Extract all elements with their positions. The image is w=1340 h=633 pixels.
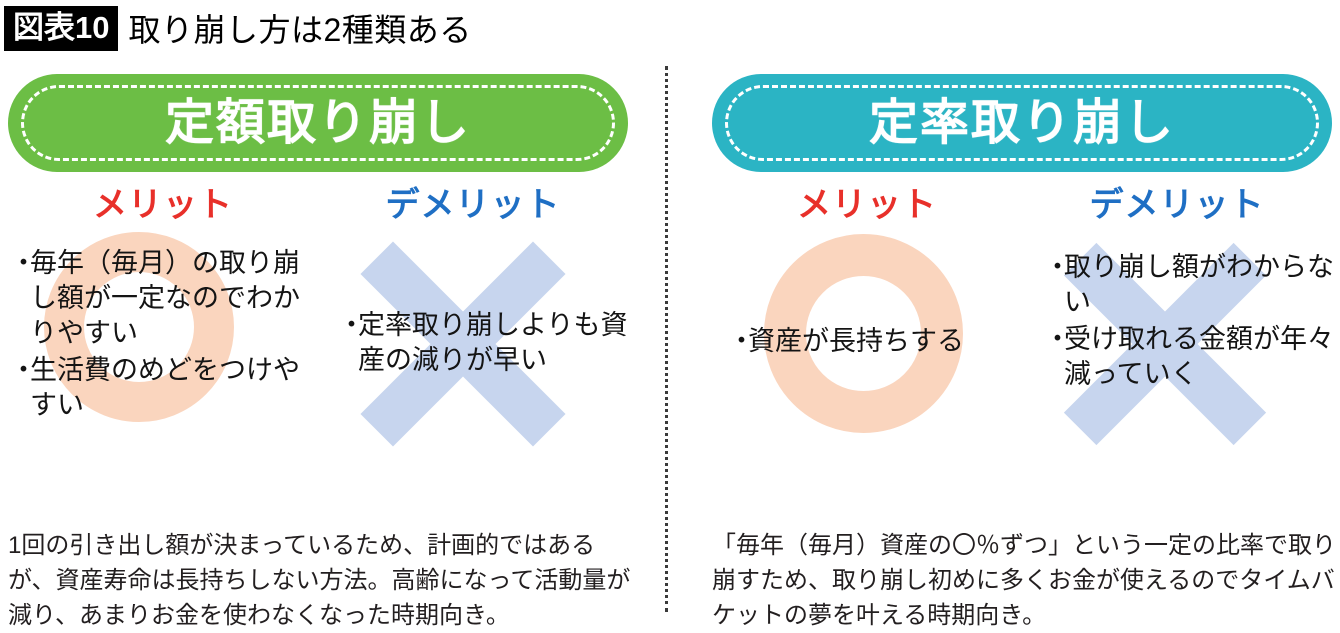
page-title-row: 図表10 取り崩し方は2種類ある bbox=[4, 4, 472, 52]
merit-demerit-columns: メリット ・ 資産が長持ちする デメリット ・ 取り崩し額がわからない bbox=[712, 188, 1332, 488]
list-item-label: 定率取り崩しよりも資産の減りが早い bbox=[358, 308, 630, 378]
demerit-column: デメリット ・ 定率取り崩しよりも資産の減りが早い bbox=[318, 188, 628, 488]
demerit-column: デメリット ・ 取り崩し額がわからない ・ 受け取れる金額が年々減っていく bbox=[1022, 188, 1332, 488]
bullet-marker: ・ bbox=[10, 246, 30, 281]
bullet-marker: ・ bbox=[728, 324, 748, 359]
merit-column: メリット ・ 毎年（毎月）の取り崩し額が一定なのでわかりやすい ・ 生活費のめど… bbox=[8, 188, 318, 488]
panel-fixed-amount: 定額取り崩し メリット ・ 毎年（毎月）の取り崩し額が一定なのでわかりやすい ・… bbox=[8, 74, 628, 488]
list-item: ・ 受け取れる金額が年々減っていく bbox=[1044, 322, 1334, 392]
demerit-bullet-list: ・ 取り崩し額がわからない ・ 受け取れる金額が年々減っていく bbox=[1044, 250, 1334, 392]
list-item: ・ 資産が長持ちする bbox=[728, 324, 1028, 359]
bullet-marker: ・ bbox=[1044, 250, 1064, 285]
footnote-fixed-rate: 「毎年（毎月）資産の〇％ずつ」という一定の比率で取り崩すため、取り崩し初めに多く… bbox=[712, 529, 1340, 633]
bullet-marker: ・ bbox=[1044, 322, 1064, 357]
list-item: ・ 取り崩し額がわからない bbox=[1044, 250, 1334, 320]
banner-label: 定率取り崩し bbox=[869, 99, 1175, 148]
demerit-heading: デメリット bbox=[318, 188, 628, 228]
list-item-label: 毎年（毎月）の取り崩し額が一定なのでわかりやすい bbox=[30, 246, 310, 351]
merit-demerit-columns: メリット ・ 毎年（毎月）の取り崩し額が一定なのでわかりやすい ・ 生活費のめど… bbox=[8, 188, 628, 488]
merit-heading: メリット bbox=[712, 188, 1022, 228]
list-item: ・ 毎年（毎月）の取り崩し額が一定なのでわかりやすい bbox=[10, 246, 310, 351]
banner-fixed-rate: 定率取り崩し bbox=[712, 74, 1332, 172]
list-item: ・ 生活費のめどをつけやすい bbox=[10, 353, 310, 423]
list-item-label: 受け取れる金額が年々減っていく bbox=[1064, 322, 1334, 392]
column-divider bbox=[665, 66, 668, 612]
banner-fixed-amount: 定額取り崩し bbox=[8, 74, 628, 172]
list-item-label: 生活費のめどをつけやすい bbox=[30, 353, 310, 423]
merit-column: メリット ・ 資産が長持ちする bbox=[712, 188, 1022, 488]
banner-label: 定額取り崩し bbox=[165, 99, 471, 148]
list-item-label: 資産が長持ちする bbox=[748, 324, 1028, 359]
bullet-marker: ・ bbox=[338, 308, 358, 343]
figure-number-badge: 図表10 bbox=[4, 6, 118, 51]
panel-fixed-rate: 定率取り崩し メリット ・ 資産が長持ちする デメリット ・ bbox=[712, 74, 1332, 488]
demerit-bullet-list: ・ 定率取り崩しよりも資産の減りが早い bbox=[338, 308, 630, 378]
demerit-heading: デメリット bbox=[1022, 188, 1332, 228]
merit-bullet-list: ・ 資産が長持ちする bbox=[728, 324, 1028, 359]
bullet-marker: ・ bbox=[10, 353, 30, 388]
merit-heading: メリット bbox=[8, 188, 318, 228]
merit-bullet-list: ・ 毎年（毎月）の取り崩し額が一定なのでわかりやすい ・ 生活費のめどをつけやす… bbox=[10, 246, 310, 423]
footnote-fixed-amount: 1回の引き出し額が決まっているため、計画的ではあるが、資産寿命は長持ちしない方法… bbox=[8, 529, 638, 633]
page-title: 取り崩し方は2種類ある bbox=[128, 5, 471, 51]
list-item: ・ 定率取り崩しよりも資産の減りが早い bbox=[338, 308, 630, 378]
list-item-label: 取り崩し額がわからない bbox=[1064, 250, 1334, 320]
